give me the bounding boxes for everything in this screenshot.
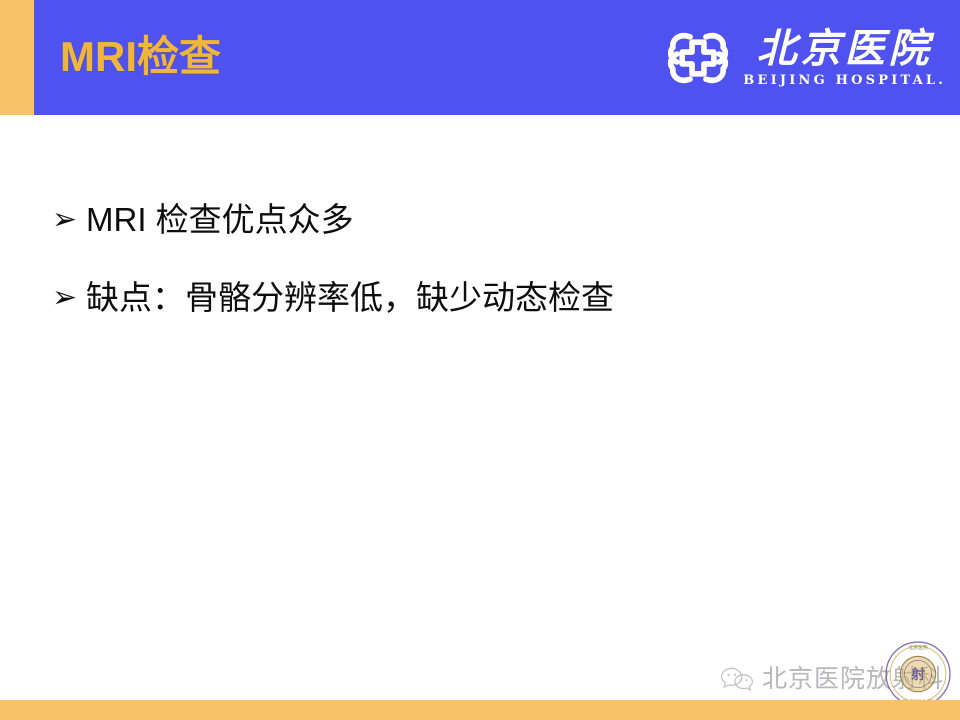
list-item: ➢ 缺点：骨骼分辨率低，缺少动态检查 xyxy=(52,275,912,321)
slide-header: MRI检查 北京医院 BEIJING HOSPITAL. xyxy=(0,0,960,115)
footer-accent-bar xyxy=(0,700,960,720)
header-left-accent-bar xyxy=(0,0,34,115)
presentation-slide: MRI检查 北京医院 BEIJING HOSPITAL. xyxy=(0,0,960,720)
logo-wordmark: 北京医院 BEIJING HOSPITAL. xyxy=(743,27,946,89)
cloverleaf-cross-icon xyxy=(665,25,731,91)
list-item-label: 缺点：骨骼分辨率低，缺少动态检查 xyxy=(86,275,614,321)
page-title: MRI检查 xyxy=(60,28,221,86)
hospital-logo: 北京医院 BEIJING HOSPITAL. xyxy=(665,18,946,98)
svg-text:射: 射 xyxy=(910,666,925,683)
logo-name-en: BEIJING HOSPITAL. xyxy=(743,73,946,89)
svg-text:北京医院: 北京医院 xyxy=(908,644,927,651)
bullet-list: ➢ MRI 检查优点众多 ➢ 缺点：骨骼分辨率低，缺少动态检查 xyxy=(52,197,912,321)
wechat-icon xyxy=(720,666,754,692)
list-item: ➢ MRI 检查优点众多 xyxy=(52,197,912,243)
arrow-bullet-icon: ➢ xyxy=(52,197,86,243)
arrow-bullet-icon: ➢ xyxy=(52,275,86,321)
slide-body: ➢ MRI 检查优点众多 ➢ 缺点：骨骼分辨率低，缺少动态检查 xyxy=(0,115,960,700)
circular-seal-icon: 北京医院 RADIOLOGY 射 xyxy=(884,640,952,708)
logo-name-cn: 北京医院 xyxy=(757,27,933,71)
list-item-label: MRI 检查优点众多 xyxy=(86,197,354,243)
